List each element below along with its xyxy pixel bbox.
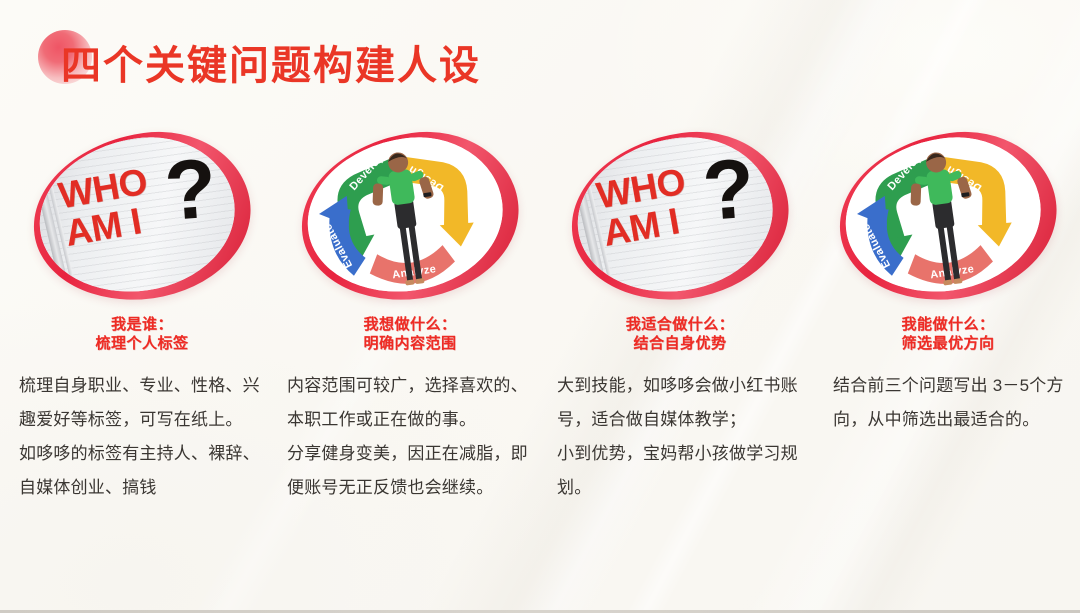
heading-line-2: 梳理个人标签 (95, 334, 188, 353)
blob-inner-clip: Develop Design Analyze Evaluate (297, 126, 512, 304)
column-what-to-do: Develop Design Analyze Evaluate (280, 130, 540, 505)
column-suited-for: WHOAM I ? 我适合做什么： 结合自身优势 大到技能，如哆哆会做小红书账号… (550, 130, 810, 505)
blob-inner-clip: WHOAM I ? (29, 126, 244, 304)
illustration-cycle-diagram: Develop Design Analyze Evaluate (293, 130, 528, 302)
heading-line-2: 筛选最优方向 (901, 334, 994, 353)
title-block: 四个关键问题构建人设 (38, 28, 481, 104)
cycle-diagram-svg: Develop Design Analyze Evaluate (306, 128, 503, 301)
heading-line-1: 我想做什么： (363, 316, 456, 333)
column-what-can-i-do: Develop Design Analyze Evaluate (818, 130, 1078, 505)
heading-line-1: 我能做什么： (901, 316, 994, 333)
body-paragraph: 如哆哆的标签有主持人、裸辞、自媒体创业、搞钱 (19, 437, 265, 505)
body-paragraph: 大到技能，如哆哆会做小红书账号，适合做自媒体教学； (557, 369, 803, 437)
heading-line-2: 结合自身优势 (626, 334, 735, 353)
columns-container: WHOAM I ? 我是谁： 梳理个人标签 梳理自身职业、专业、性格、兴趣爱好等… (0, 130, 1080, 505)
column-who-am-i: WHOAM I ? 我是谁： 梳理个人标签 梳理自身职业、专业、性格、兴趣爱好等… (12, 130, 272, 505)
body-paragraph: 结合前三个问题写出 3－5个方向，从中筛选出最适合的。 (833, 369, 1071, 437)
illustration-cycle-diagram: Develop Design Analyze Evaluate (831, 130, 1066, 302)
question-mark-icon: ? (699, 146, 756, 233)
blob-inner-clip: Develop Design Analyze Evaluate (835, 126, 1050, 304)
column-heading: 我能做什么： 筛选最优方向 (901, 315, 994, 353)
body-paragraph: 小到优势，宝妈帮小孩做学习规划。 (557, 437, 803, 505)
heading-line-1: 我适合做什么： (626, 316, 735, 333)
body-paragraph: 内容范围可较广，选择喜欢的、本职工作或正在做的事。 (287, 369, 533, 437)
body-paragraph: 分享健身变美，因正在减脂，即便账号无正反馈也会继续。 (287, 437, 533, 505)
column-body: 结合前三个问题写出 3－5个方向，从中筛选出最适合的。 (819, 369, 1077, 437)
heading-line-1: 我是谁： (111, 316, 173, 333)
column-body: 内容范围可较广，选择喜欢的、本职工作或正在做的事。 分享健身变美，因正在减脂，即… (281, 369, 539, 505)
column-body: 梳理自身职业、专业、性格、兴趣爱好等标签，可写在纸上。 如哆哆的标签有主持人、裸… (13, 369, 271, 505)
column-heading: 我想做什么： 明确内容范围 (363, 315, 456, 353)
illustration-who-am-i-note: WHOAM I ? (25, 130, 260, 302)
illustration-who-am-i-note: WHOAM I ? (563, 130, 798, 302)
cycle-diagram-svg: Develop Design Analyze Evaluate (844, 128, 1041, 301)
column-body: 大到技能，如哆哆会做小红书账号，适合做自媒体教学； 小到优势，宝妈帮小孩做学习规… (551, 369, 809, 505)
blob-inner-clip: WHOAM I ? (567, 126, 782, 304)
question-mark-icon: ? (161, 146, 218, 233)
slide-canvas: 四个关键问题构建人设 WHOAM I ? 我是谁： 梳理个人标签 梳理自身职业、 (0, 0, 1080, 613)
column-heading: 我是谁： 梳理个人标签 (95, 315, 188, 353)
page-title: 四个关键问题构建人设 (61, 40, 481, 92)
heading-line-2: 明确内容范围 (363, 334, 456, 353)
body-paragraph: 梳理自身职业、专业、性格、兴趣爱好等标签，可写在纸上。 (19, 369, 265, 437)
column-heading: 我适合做什么： 结合自身优势 (626, 315, 735, 353)
